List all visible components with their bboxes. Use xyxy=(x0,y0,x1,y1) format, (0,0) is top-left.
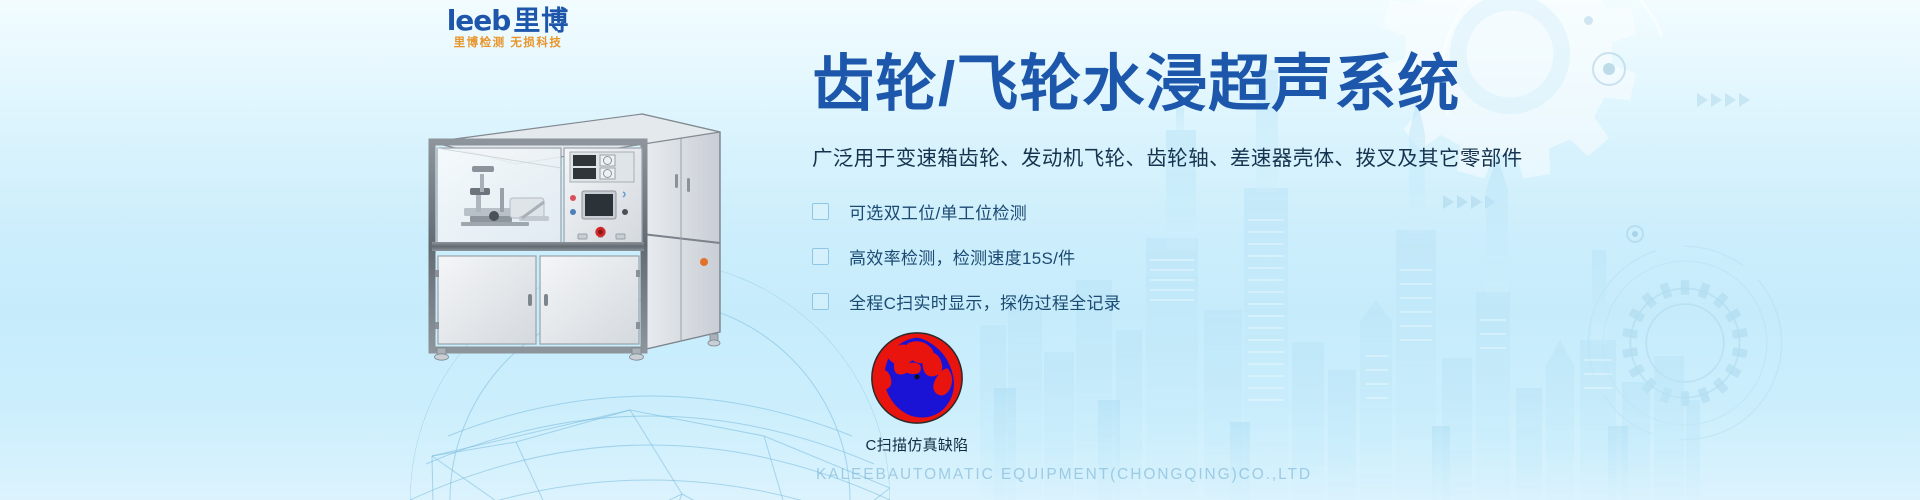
brand-logo[interactable]: leeb 里博 里博检测 无损科技 xyxy=(428,7,588,50)
page-title: 齿轮/飞轮水浸超声系统 xyxy=(812,52,1812,119)
dot-decoration xyxy=(1584,16,1593,25)
logo-latin-text: leeb xyxy=(447,7,511,35)
feature-item: 可选双工位/单工位检测 xyxy=(812,194,1812,230)
checkbox-icon xyxy=(812,248,829,265)
feature-label: 高效率检测，检测速度15S/件 xyxy=(849,244,1075,269)
hero-content: 齿轮/飞轮水浸超声系统 广泛用于变速箱齿轮、发动机飞轮、齿轮轴、差速器壳体、拨叉… xyxy=(812,52,1812,329)
logo-chinese-text: 里博 xyxy=(513,8,569,35)
checkbox-icon xyxy=(812,203,829,220)
checkbox-icon xyxy=(812,293,829,310)
product-banner: leeb 里博 里博检测 无损科技 xyxy=(0,0,1920,500)
feature-item: 高效率检测，检测速度15S/件 xyxy=(812,239,1812,275)
logo-tagline: 里博检测 无损科技 xyxy=(428,38,588,50)
feature-item: 全程C扫实时显示，探伤过程全记录 xyxy=(812,284,1812,320)
company-name-watermark: KALEEBAUTOMATIC EQUIPMENT(CHONGQING)CO.,… xyxy=(816,466,1312,484)
cscan-caption: C扫描仿真缺陷 xyxy=(832,434,1002,455)
cscan-sample: C扫描仿真缺陷 xyxy=(832,330,1002,455)
feature-label: 全程C扫实时显示，探伤过程全记录 xyxy=(849,289,1121,314)
logo-wordmark: leeb 里博 xyxy=(428,7,588,35)
hero-subtitle: 广泛用于变速箱齿轮、发动机飞轮、齿轮轴、差速器壳体、拨叉及其它零部件 xyxy=(812,141,1812,171)
product-photo-machine xyxy=(404,104,734,364)
feature-list: 可选双工位/单工位检测 高效率检测，检测速度15S/件 全程C扫实时显示，探伤过… xyxy=(812,194,1812,320)
cscan-image xyxy=(869,330,965,426)
feature-label: 可选双工位/单工位检测 xyxy=(849,199,1027,224)
